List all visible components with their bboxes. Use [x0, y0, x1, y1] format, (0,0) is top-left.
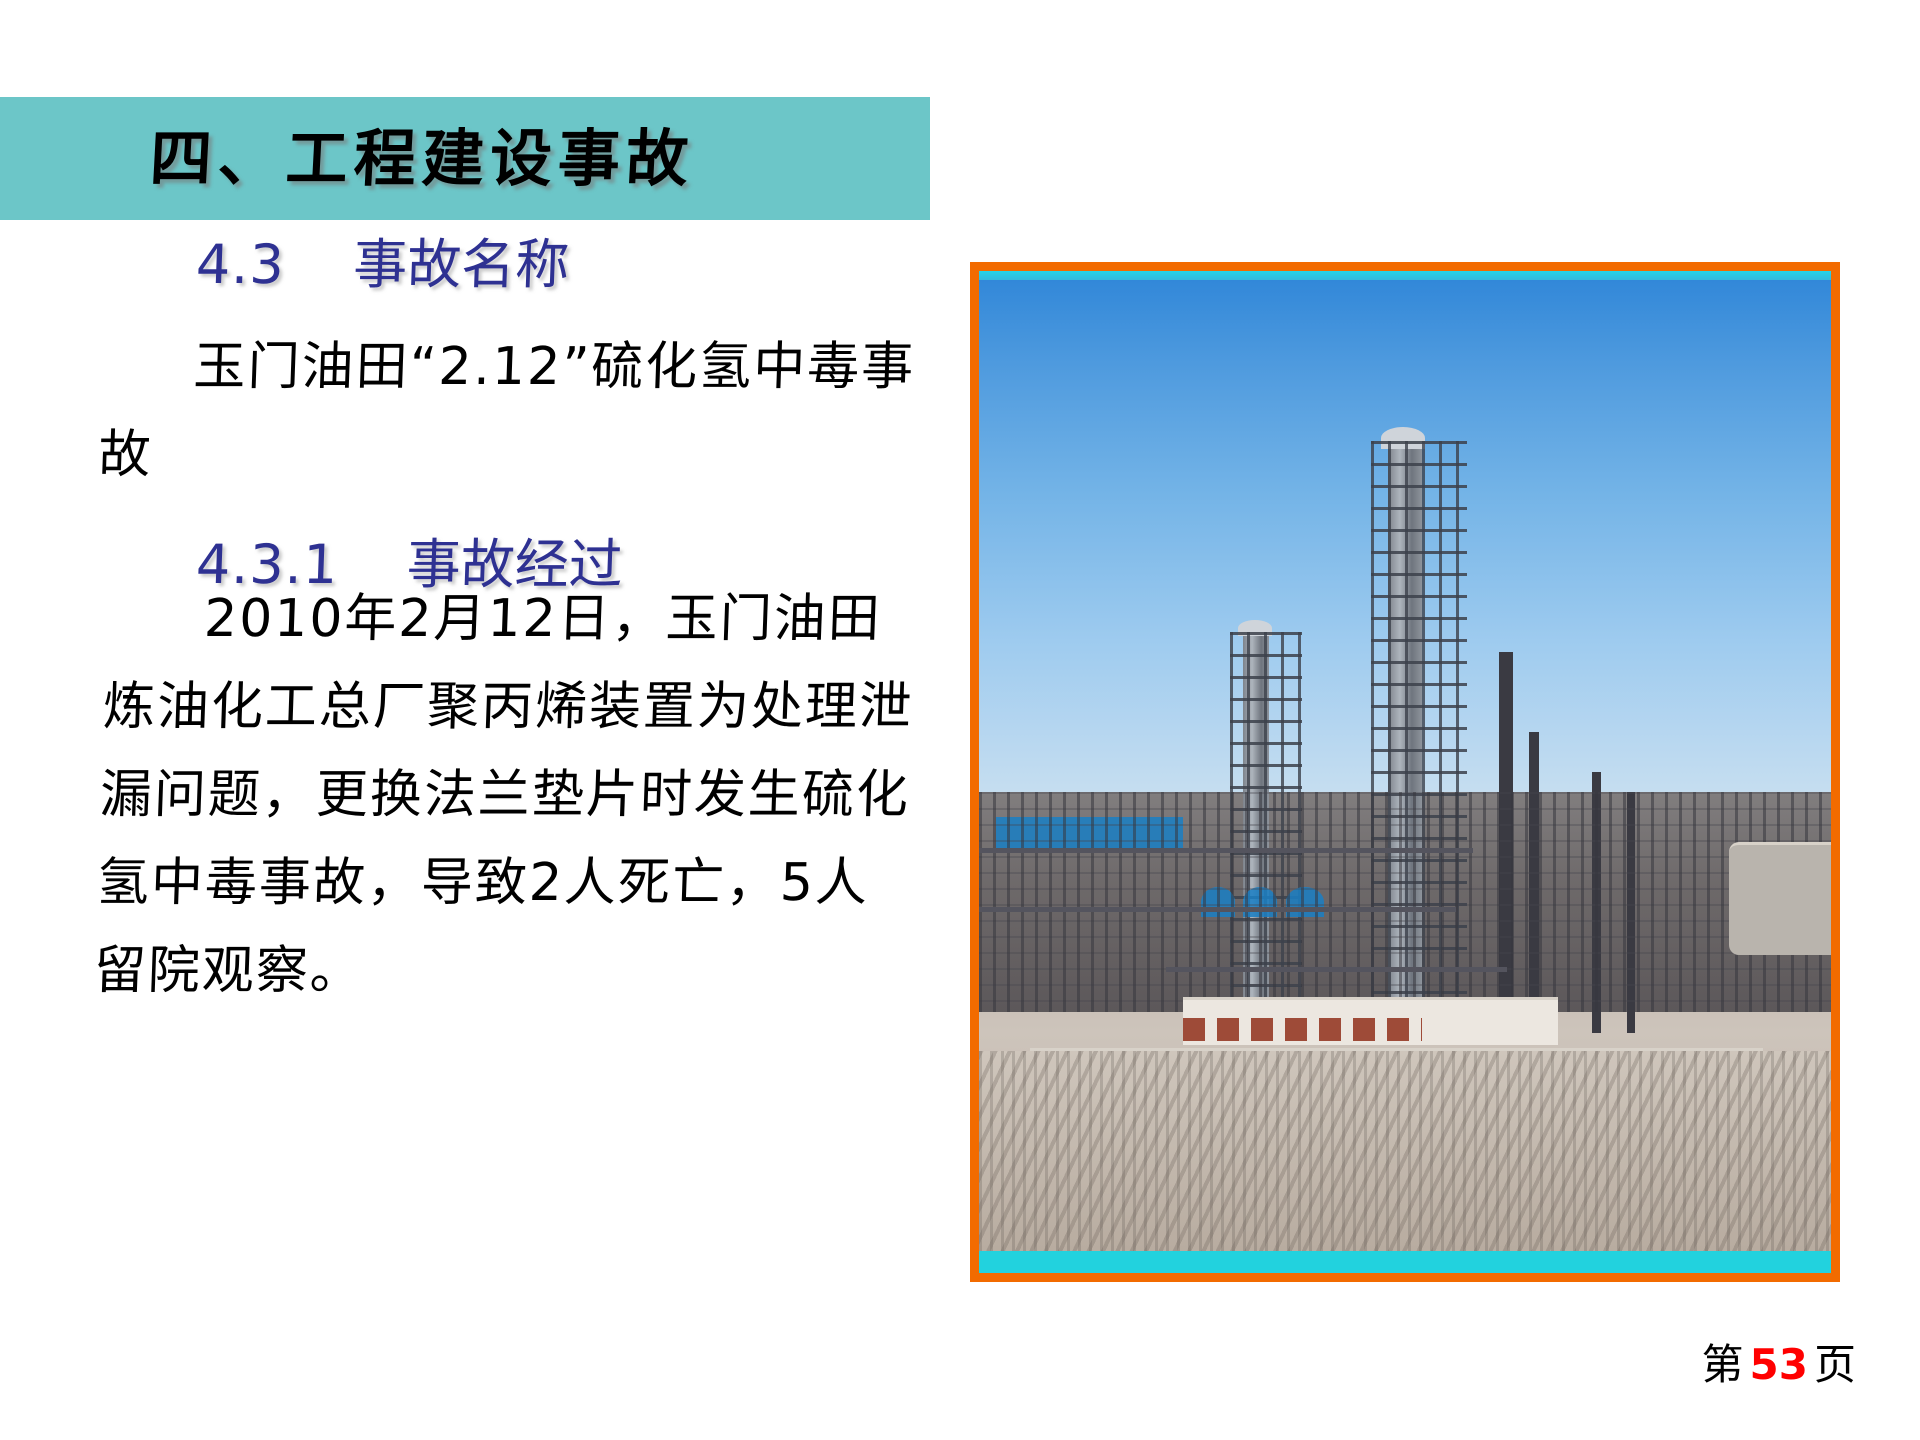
photo-top-edge-strip: [979, 271, 1831, 280]
photo-rack-deck-2: [979, 907, 1456, 912]
section-title-banner: 四、工程建设事故: [0, 97, 930, 220]
refinery-photo-frame: [970, 262, 1840, 1282]
heading-4-3: 4.3 事故名称: [195, 235, 570, 295]
page-number: 第53页: [1702, 1331, 1856, 1392]
page-number-value: 53: [1744, 1340, 1814, 1389]
photo-bottom-edge-strip: [979, 1251, 1831, 1273]
heading-4-3-number: 4.3: [195, 233, 286, 296]
paragraph-accident-name: 玉门油田“2.12”硫化氢中毒事故: [97, 323, 923, 499]
refinery-photo: [979, 271, 1831, 1273]
section-title-text: 四、工程建设事故: [148, 128, 695, 190]
content-column: 4.3 事故名称 玉门油田“2.12”硫化氢中毒事故 4.3.1 事故经过 20…: [0, 235, 940, 1355]
photo-rack-deck-3: [1166, 967, 1507, 972]
page-number-prefix: 第: [1702, 1340, 1744, 1389]
page-number-suffix: 页: [1814, 1340, 1856, 1389]
photo-pipe-rack: [979, 792, 1831, 1012]
photo-rack-deck-1: [979, 848, 1473, 853]
paragraph-accident-process: 2010年2月12日，玉门油田炼油化工总厂聚丙烯装置为处理泄漏问题，更换法兰垫片…: [92, 575, 927, 1015]
photo-silver-vessel: [1729, 842, 1831, 955]
heading-4-3-title: 事故名称: [352, 233, 570, 296]
photo-construction-foreground: [979, 1051, 1831, 1251]
photo-colonnade: [1183, 1018, 1422, 1040]
